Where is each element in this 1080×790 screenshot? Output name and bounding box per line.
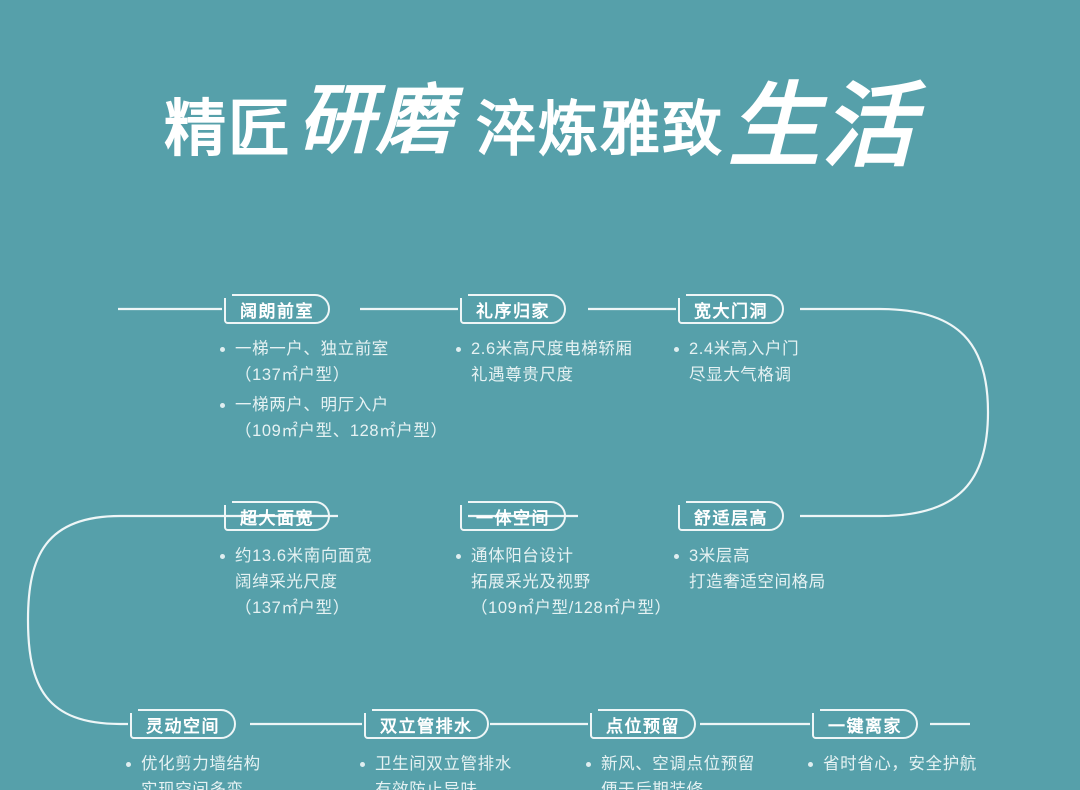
node-body-lixu-guijia: 2.6米高尺度电梯轿厢 礼遇尊贵尺度 <box>454 336 633 392</box>
bullet-line: 约13.6米南向面宽 <box>235 547 372 565</box>
list-item: 约13.6米南向面宽 阔绰采光尺度 （137㎡户型） <box>218 543 372 621</box>
bullet-subline: 阔绰采光尺度 <box>235 569 372 595</box>
bullet-line: 卫生间双立管排水 <box>375 755 512 773</box>
bullet-subline-2: （109㎡户型/128㎡户型） <box>471 595 672 621</box>
bullet-line: 一梯一户、独立前室 <box>235 340 389 358</box>
bullet-subline: （109㎡户型、128㎡户型） <box>235 418 448 444</box>
node-chip-dianwei-yuliu[interactable]: 点位预留 <box>590 709 696 739</box>
list-item: 卫生间双立管排水 有效防止异味 <box>358 751 512 790</box>
bullet-line: 一梯两户、明厅入户 <box>235 396 389 414</box>
chip-label: 点位预留 <box>606 712 680 737</box>
node-chip-shushi-cenggao[interactable]: 舒适层高 <box>678 501 784 531</box>
bullet-line: 省时省心，安全护航 <box>823 755 977 773</box>
list-item: 一梯一户、独立前室 （137㎡户型） <box>218 336 448 388</box>
chip-label: 超大面宽 <box>240 504 314 529</box>
bullet-line: 3米层高 <box>689 547 750 565</box>
bullet-line: 新风、空调点位预留 <box>601 755 755 773</box>
list-item: 省时省心，安全护航 <box>806 751 977 777</box>
bullet-subline: 礼遇尊贵尺度 <box>471 362 633 388</box>
node-chip-lixu-guijia[interactable]: 礼序归家 <box>460 294 566 324</box>
bullet-line: 2.6米高尺度电梯轿厢 <box>471 340 633 358</box>
chip-label: 一键离家 <box>828 712 902 737</box>
node-body-lingdong-kongjian: 优化剪力墙结构 实现空间多变 <box>124 751 261 790</box>
node-chip-yijian-lijia[interactable]: 一键离家 <box>812 709 918 739</box>
connector-left-wrap <box>28 516 222 724</box>
bullet-line: 2.4米高入户门 <box>689 340 799 358</box>
node-body-dianwei-yuliu: 新风、空调点位预留 便于后期装修 <box>584 751 755 790</box>
node-body-shushi-cenggao: 3米层高 打造奢适空间格局 <box>672 543 826 599</box>
chip-label: 礼序归家 <box>476 297 550 322</box>
bullet-subline: 有效防止异味 <box>375 777 512 790</box>
bullet-subline: 实现空间多变 <box>141 777 261 790</box>
node-body-yiti-kongjian: 通体阳台设计 拓展采光及视野 （109㎡户型/128㎡户型） <box>454 543 672 625</box>
node-chip-shuangliguan-paishui[interactable]: 双立管排水 <box>364 709 489 739</box>
chip-label: 灵动空间 <box>146 712 220 737</box>
connector-right-wrap <box>800 309 988 516</box>
node-body-chaoda-miankuan: 约13.6米南向面宽 阔绰采光尺度 （137㎡户型） <box>218 543 372 625</box>
list-item: 新风、空调点位预留 便于后期装修 <box>584 751 755 790</box>
node-chip-kuolang-qianshi[interactable]: 阔朗前室 <box>224 294 330 324</box>
bullet-line: 通体阳台设计 <box>471 547 574 565</box>
bullet-subline: 拓展采光及视野 <box>471 569 672 595</box>
node-body-kuolang-qianshi: 一梯一户、独立前室 （137㎡户型） 一梯两户、明厅入户 （109㎡户型、128… <box>218 336 448 448</box>
bullet-subline: （137㎡户型） <box>235 362 448 388</box>
bullet-subline: 便于后期装修 <box>601 777 755 790</box>
flow-connector-lines <box>0 0 1080 790</box>
list-item: 2.6米高尺度电梯轿厢 礼遇尊贵尺度 <box>454 336 633 388</box>
bullet-subline: 尽显大气格调 <box>689 362 799 388</box>
bullet-line: 优化剪力墙结构 <box>141 755 261 773</box>
chip-label: 宽大门洞 <box>694 297 768 322</box>
chip-label: 舒适层高 <box>694 504 768 529</box>
infographic-canvas: 精匠研磨淬炼雅致生活 阔朗前室 一梯一户、独立前室 （137㎡户型） 一梯两户、 <box>0 0 1080 790</box>
node-chip-lingdong-kongjian[interactable]: 灵动空间 <box>130 709 236 739</box>
chip-label: 双立管排水 <box>380 712 473 737</box>
list-item: 2.4米高入户门 尽显大气格调 <box>672 336 799 388</box>
node-chip-chaoda-miankuan[interactable]: 超大面宽 <box>224 501 330 531</box>
bullet-subline-2: （137㎡户型） <box>235 595 372 621</box>
chip-label: 阔朗前室 <box>240 297 314 322</box>
node-body-yijian-lijia: 省时省心，安全护航 <box>806 751 977 781</box>
node-chip-yiti-kongjian[interactable]: 一体空间 <box>460 501 566 531</box>
list-item: 一梯两户、明厅入户 （109㎡户型、128㎡户型） <box>218 392 448 444</box>
chip-label: 一体空间 <box>476 504 550 529</box>
bullet-subline: 打造奢适空间格局 <box>689 569 826 595</box>
node-body-shuangliguan-paishui: 卫生间双立管排水 有效防止异味 <box>358 751 512 790</box>
list-item: 优化剪力墙结构 实现空间多变 <box>124 751 261 790</box>
node-body-kuanda-mendong: 2.4米高入户门 尽显大气格调 <box>672 336 799 392</box>
node-chip-kuanda-mendong[interactable]: 宽大门洞 <box>678 294 784 324</box>
list-item: 3米层高 打造奢适空间格局 <box>672 543 826 595</box>
list-item: 通体阳台设计 拓展采光及视野 （109㎡户型/128㎡户型） <box>454 543 672 621</box>
